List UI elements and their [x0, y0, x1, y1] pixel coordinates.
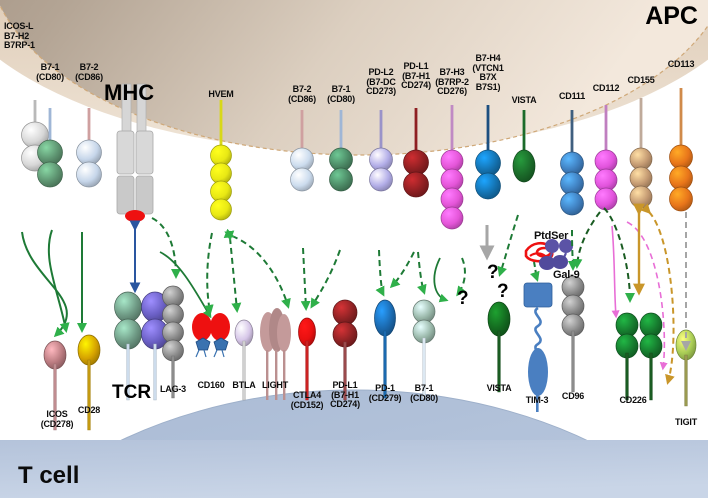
apc-ligand-b7-1-cd80-apc [38, 108, 63, 187]
tcell-receptor-cd96 [562, 276, 584, 392]
tcell-receptor-icos [44, 341, 66, 430]
tim-3-receptor [524, 283, 552, 412]
tcell-receptor-pd-1 [375, 300, 396, 398]
annotation-question-mark-vista: ? [497, 281, 509, 303]
peptide [125, 210, 145, 222]
tcell-receptor-cd28 [78, 335, 100, 430]
tcell-receptor-b7-1-cd80-tcell [413, 300, 435, 398]
tcell-receptor-cd226-b [640, 313, 662, 400]
mhc-title: MHC [104, 80, 154, 106]
diagram-canvas [0, 0, 708, 498]
tcell-receptor-pd-l1-tcell [333, 300, 357, 400]
apc-title: APC [645, 2, 698, 31]
apc-ligand-cd155 [630, 98, 652, 208]
tcell-receptor-vista-tcell [488, 302, 510, 392]
cd160-complex [192, 313, 230, 357]
tcr-title: TCR [112, 382, 151, 404]
tcell-receptor-cd226 [616, 313, 638, 400]
annotation-question-mark-b7h3: ? [457, 288, 469, 310]
tcell-title: T cell [18, 462, 79, 490]
apc-ligand-cd113 [670, 88, 693, 211]
annotation-question-mark-b7h4: ? [487, 262, 499, 284]
apc-ligand-cd111 [561, 110, 584, 215]
apc-ligand-cd112 [595, 105, 617, 210]
tcell-receptor-ctla4 [299, 318, 316, 400]
apc-membrane [0, 0, 708, 155]
tcell-membrane [0, 390, 708, 498]
tcell-receptor-tigit [676, 330, 696, 406]
immune-checkpoint-diagram: APC T cell MHC TCR ICOS-LB7-H2B7RP-1B7-1… [0, 0, 708, 498]
tcell-receptor-btla [235, 320, 253, 400]
light-trimer [260, 308, 291, 400]
apc-ligand-b7-2-cd86-apc [77, 108, 102, 187]
